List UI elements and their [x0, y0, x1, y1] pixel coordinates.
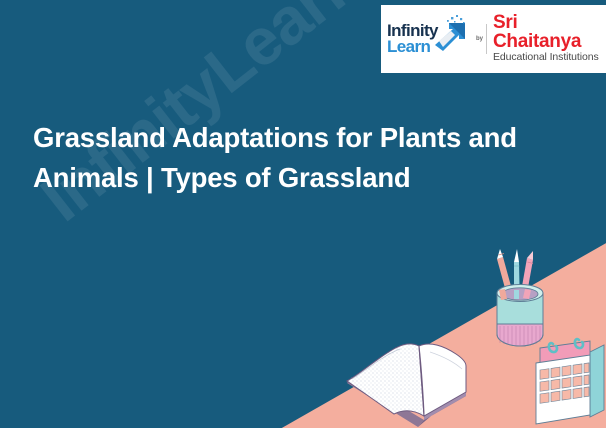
- sri-chaitanya-subtitle: Educational Institutions: [493, 51, 606, 64]
- page-title: Grassland Adaptations for Plants and Ani…: [33, 118, 581, 197]
- sri-chaitanya-logo[interactable]: Sri Chaitanya Educational Institutions: [490, 13, 606, 64]
- infinity-arrow-icon: [429, 15, 473, 61]
- logo-connector: by: [473, 24, 490, 54]
- slide-canvas: InfinityLearn.com: [0, 0, 606, 428]
- sri-chaitanya-name: Sri Chaitanya: [493, 13, 606, 51]
- infinity-learn-logo[interactable]: Infinity Learn: [381, 5, 473, 73]
- by-label: by: [476, 36, 483, 42]
- brand-logo-box[interactable]: Infinity Learn by S: [381, 5, 606, 73]
- logo-divider: [486, 24, 487, 54]
